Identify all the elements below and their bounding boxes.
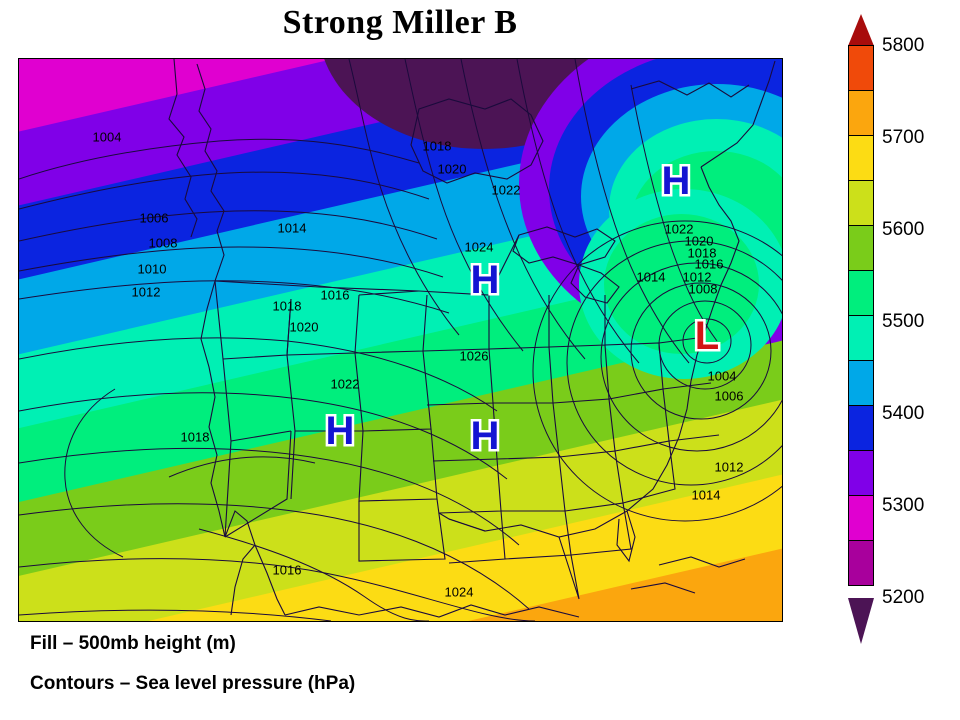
contour-label: 1004 bbox=[93, 130, 122, 145]
colorbar-band bbox=[848, 270, 874, 316]
colorbar-tick: 5600 bbox=[882, 219, 924, 241]
contour-label: 1016 bbox=[321, 288, 350, 303]
colorbar-bands bbox=[848, 46, 874, 586]
colorbar-band bbox=[848, 180, 874, 226]
contour-label: 1014 bbox=[692, 488, 721, 503]
contour-label: 1016 bbox=[273, 563, 302, 578]
contour-label: 1008 bbox=[149, 236, 178, 251]
contour-label: 1006 bbox=[715, 389, 744, 404]
colorbar-tick: 5200 bbox=[882, 587, 924, 609]
contour-label: 1012 bbox=[715, 460, 744, 475]
contour-label: 1006 bbox=[140, 211, 169, 226]
colorbar-under-arrow bbox=[848, 598, 874, 644]
contour-label: 1020 bbox=[290, 320, 319, 335]
contour-label: 1014 bbox=[637, 270, 666, 285]
contour-label: 1010 bbox=[138, 262, 167, 277]
high-pressure-marker: H bbox=[662, 161, 691, 201]
contour-label: 1008 bbox=[689, 282, 718, 297]
page-title: Strong Miller B bbox=[0, 4, 800, 42]
colorbar-band bbox=[848, 450, 874, 496]
colorbar-band bbox=[848, 360, 874, 406]
colorbar-band bbox=[848, 90, 874, 136]
geography-and-isobars bbox=[19, 59, 782, 621]
contour-label: 1026 bbox=[460, 349, 489, 364]
contour-label: 1018 bbox=[181, 430, 210, 445]
high-pressure-marker: H bbox=[326, 411, 355, 451]
contour-label: 1022 bbox=[331, 377, 360, 392]
colorbar-band bbox=[848, 225, 874, 271]
colorbar-tick: 5400 bbox=[882, 403, 924, 425]
colorbar: 5800570056005500540053005200 bbox=[848, 8, 874, 708]
colorbar-band bbox=[848, 45, 874, 91]
contour-label: 1004 bbox=[708, 369, 737, 384]
high-pressure-marker: H bbox=[471, 260, 500, 300]
weather-map-panel: 1004100610081010101210141016101810201018… bbox=[18, 58, 783, 622]
low-pressure-marker: L bbox=[695, 316, 719, 356]
contour-label: 1024 bbox=[445, 585, 474, 600]
colorbar-band bbox=[848, 495, 874, 541]
colorbar-over-arrow bbox=[848, 14, 874, 46]
caption-fill: Fill – 500mb height (m) bbox=[30, 633, 236, 655]
colorbar-band bbox=[848, 405, 874, 451]
contour-label: 1020 bbox=[438, 162, 467, 177]
high-pressure-marker: H bbox=[471, 416, 500, 456]
colorbar-band bbox=[848, 315, 874, 361]
isobar-contours bbox=[19, 59, 782, 621]
colorbar-tick: 5300 bbox=[882, 495, 924, 517]
colorbar-band bbox=[848, 540, 874, 586]
colorbar-tick: 5800 bbox=[882, 35, 924, 57]
colorbar-tick: 5500 bbox=[882, 311, 924, 333]
contour-label: 1014 bbox=[278, 221, 307, 236]
contour-label: 1018 bbox=[273, 299, 302, 314]
colorbar-band bbox=[848, 135, 874, 181]
coastlines-and-borders bbox=[169, 59, 775, 617]
contour-label: 1022 bbox=[492, 183, 521, 198]
contour-label: 1024 bbox=[465, 240, 494, 255]
contour-label: 1012 bbox=[132, 285, 161, 300]
colorbar-tick: 5700 bbox=[882, 127, 924, 149]
caption-contours: Contours – Sea level pressure (hPa) bbox=[30, 673, 355, 695]
contour-label: 1018 bbox=[423, 139, 452, 154]
